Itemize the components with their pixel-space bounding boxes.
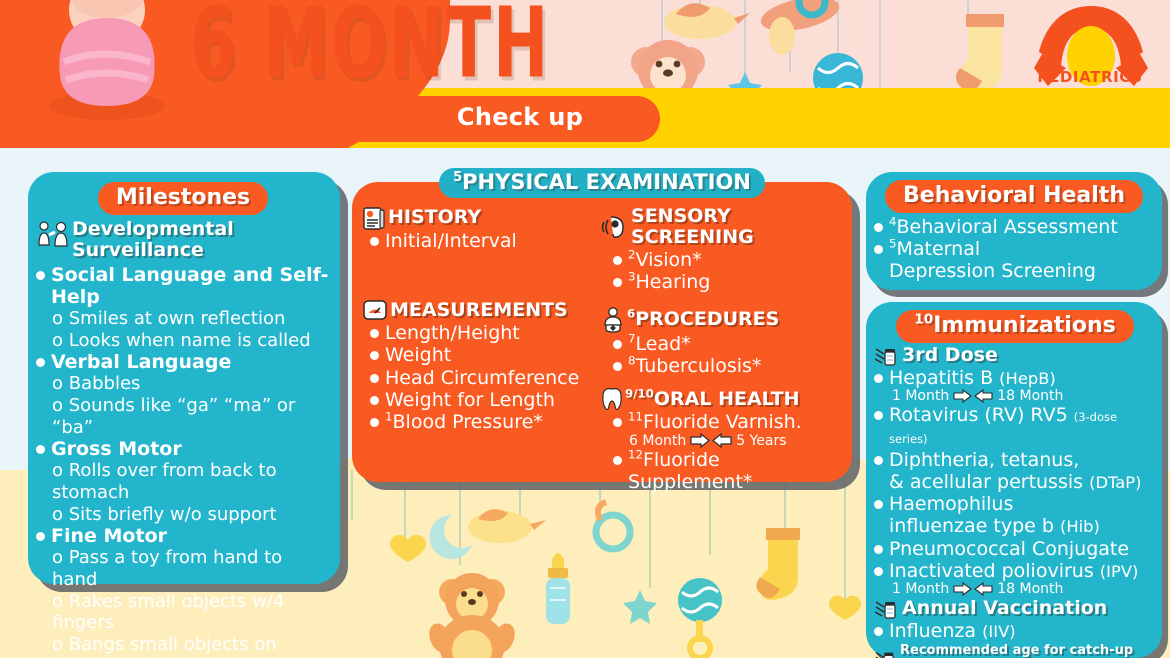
item-superscript: 2 <box>628 247 636 261</box>
section-heading-text: PROCEDURES <box>635 308 779 330</box>
list-item: Diphtheria, tetanus, & acellular pertuss… <box>874 449 1156 493</box>
list-item-text: Vision* <box>636 249 702 271</box>
list-item: o Pass a toy from hand to hand <box>36 547 330 590</box>
list-item-text: Hearing <box>636 271 711 293</box>
list-item-text-line2: Depression Screening <box>889 260 1096 282</box>
bullet-dot <box>613 362 622 371</box>
clipboard-history-icon <box>362 206 386 230</box>
list-item: 12Fluoride Supplement* <box>601 449 842 493</box>
bullet-dot <box>613 256 622 265</box>
page-title: 6 MONTH <box>190 0 550 99</box>
exam-title: 5PHYSICAL EXAMINATION <box>439 168 765 198</box>
item-superscript: 1 <box>385 410 393 424</box>
list-item: o Babbles <box>36 373 330 395</box>
list-item: Inactivated poliovirus (IPV) <box>874 560 1156 582</box>
list-item: Initial/Interval <box>362 230 593 252</box>
checkup-pill: Check up <box>400 96 640 138</box>
milestone-label-text: Verbal Language <box>51 351 231 373</box>
section-heading-text: MEASUREMENTS <box>390 300 568 321</box>
bullet-dot <box>874 411 883 420</box>
list-item: Weight <box>362 344 593 366</box>
bullet-dot <box>874 374 883 383</box>
vaccine-abbrev: (HepB) <box>999 369 1056 388</box>
bullet-dot <box>36 532 45 541</box>
list-item: Rotavirus (RV) RV5 (3-dose series) <box>874 404 1156 448</box>
bullet-dot <box>36 445 45 454</box>
list-item: Weight for Length <box>362 389 593 411</box>
pediatrics-logo-icon <box>1026 2 1156 102</box>
milestone-label-text: Social Language and Self-Help <box>51 264 330 308</box>
bullet-dot <box>370 237 379 246</box>
vaccine-name: Inactivated poliovirus <box>889 560 1094 582</box>
range-from: 1 Month <box>892 388 949 404</box>
bullet-dot <box>874 245 883 254</box>
range-to: 5 Years <box>736 433 786 449</box>
exam-section-procedures: 6PROCEDURES <box>601 307 842 333</box>
bullet-dot <box>36 358 45 367</box>
list-item-text: Length/Height <box>385 322 520 344</box>
list-item-text: Maternal <box>897 238 981 260</box>
milestone-label-text: Gross Motor <box>51 438 182 460</box>
list-item-text: Initial/Interval <box>385 230 517 252</box>
section-heading-text: HISTORY <box>388 207 481 228</box>
bullet-dot <box>370 396 379 405</box>
list-item: o Looks when name is called <box>36 330 330 352</box>
list-item-text: Fluoride Supplement* <box>628 449 752 493</box>
child-development-icon <box>36 221 70 247</box>
double-arrow-icon <box>690 433 732 448</box>
list-item: o Rakes small objects w/4 fingers <box>36 591 330 634</box>
syringe-vaccine-icon <box>874 345 900 367</box>
bullet-dot <box>613 278 622 287</box>
list-item: 11Fluoride Varnish. <box>601 411 842 433</box>
exam-section-measurements: MEASUREMENTS <box>362 298 593 322</box>
list-item: 7Lead* <box>601 333 842 355</box>
bullet-dot <box>613 456 622 465</box>
checkup-label: Check up <box>457 103 583 131</box>
vaccine-name: Haemophilus <box>889 493 1100 515</box>
sock-icon <box>956 14 1004 93</box>
age-range-row: 1 Month 18 Month <box>874 388 1156 404</box>
double-arrow-icon <box>953 582 993 596</box>
bullet-dot <box>370 418 379 427</box>
list-item-text: Blood Pressure* <box>393 411 543 433</box>
duck-icon <box>664 3 750 39</box>
list-item: Pneumococcal Conjugate <box>874 538 1156 560</box>
bullet-dot <box>874 545 883 554</box>
double-arrow-icon <box>953 389 993 403</box>
list-item-text: Head Circumference <box>385 367 579 389</box>
list-item: o Rolls over from back to stomach <box>36 460 330 503</box>
list-item-text: Tuberculosis* <box>636 355 762 377</box>
bullet-dot <box>370 329 379 338</box>
immunizations-title-text: Immunizations <box>933 313 1115 338</box>
range-from: 6 Month <box>629 433 686 449</box>
pacifier-icon <box>758 0 842 55</box>
milestones-heading-line2: Surveillance <box>72 240 234 261</box>
list-item: Length/Height <box>362 322 593 344</box>
list-item-text: Weight <box>385 344 451 366</box>
exam-section-oral-health: 9/10ORAL HEALTH <box>601 387 842 411</box>
vaccine-name: Diphtheria, tetanus, <box>889 449 1142 471</box>
list-item: o Sits briefly w/o support <box>36 504 330 526</box>
bullet-dot <box>874 627 883 636</box>
item-superscript: 5 <box>889 237 897 251</box>
vaccine-name-line2: & acellular pertussis <box>889 471 1083 493</box>
bullet-dot <box>613 418 622 427</box>
list-item: o Bangs small objects on surface <box>36 634 330 658</box>
bullet-dot <box>613 340 622 349</box>
list-item: o Sounds like “ga” “ma” or “ba” <box>36 395 330 438</box>
syringe-vaccine-icon <box>874 649 898 658</box>
vaccine-name-line2: influenzae type b <box>889 515 1054 537</box>
item-superscript: 3 <box>628 269 636 283</box>
bullet-dot <box>874 456 883 465</box>
group-heading-text: Recommended age for catch-up immunizatio… <box>900 644 1156 658</box>
vaccine-abbrev: (Hib) <box>1060 517 1100 536</box>
item-superscript: 12 <box>628 447 643 461</box>
list-item: Head Circumference <box>362 367 593 389</box>
age-range-row: 1 Month 18 Month <box>874 581 1156 597</box>
item-superscript: 8 <box>628 354 636 368</box>
milestones-panel: Milestones Developmental Surveillance So… <box>28 172 340 584</box>
item-superscript: 11 <box>628 410 643 424</box>
milestones-title: Milestones <box>98 182 268 215</box>
section-heading-text: ORAL HEALTH <box>654 388 800 410</box>
list-item: 3Hearing <box>601 271 842 293</box>
exam-title-text: PHYSICAL EXAMINATION <box>462 170 751 194</box>
immunization-group-catchup: Recommended age for catch-up immunizatio… <box>874 644 1156 658</box>
group-heading-text: 3rd Dose <box>902 345 998 366</box>
milestone-group-label: Gross Motor <box>36 438 330 460</box>
immunizations-title: 10Immunizations <box>896 310 1133 343</box>
vaccine-abbrev: (IPV) <box>1100 562 1139 581</box>
list-item: o Smiles at own reflection <box>36 308 330 330</box>
vaccine-name: Rotavirus (RV) RV5 <box>889 404 1068 426</box>
tooth-oral-health-icon <box>601 387 623 411</box>
milestone-group-label: Fine Motor <box>36 525 330 547</box>
exam-section-history: HISTORY <box>362 206 593 230</box>
item-superscript: 7 <box>628 332 636 346</box>
vaccine-abbrev: (IIV) <box>982 622 1016 641</box>
group-heading-text: Annual Vaccination <box>902 598 1107 619</box>
vaccine-name: Influenza <box>889 620 976 642</box>
vaccine-name: Pneumococcal Conjugate <box>889 538 1129 560</box>
list-item-text: Lead* <box>636 333 691 355</box>
list-item: 2Vision* <box>601 249 842 271</box>
list-item-text: Fluoride Varnish. <box>643 411 802 433</box>
list-item: Influenza (IIV) <box>874 620 1156 642</box>
milestone-group-label: Social Language and Self-Help <box>36 264 330 308</box>
immunizations-panel: 10Immunizations 3rd Dose Hepatitis B (He… <box>866 302 1162 658</box>
list-item: 8Tuberculosis* <box>601 355 842 377</box>
scale-measurements-icon <box>362 298 388 322</box>
syringe-vaccine-icon <box>874 598 900 620</box>
section-superscript: 9/10 <box>625 386 654 400</box>
list-item: Hepatitis B (HepB) <box>874 367 1156 389</box>
swaddled-baby-icon <box>22 0 192 133</box>
list-item: 5Maternal Depression Screening <box>874 238 1154 282</box>
logo-text: PEDIATRICS <box>1022 68 1158 86</box>
bullet-dot <box>874 500 883 509</box>
vaccine-name: Hepatitis B <box>889 367 993 389</box>
exam-title-superscript: 5 <box>453 170 462 185</box>
vaccine-abbrev: (DTaP) <box>1089 473 1141 492</box>
list-item: Haemophilus influenzae type b (Hib) <box>874 493 1156 537</box>
behavioral-title: Behavioral Health <box>885 180 1143 213</box>
behavioral-health-panel: Behavioral Health 4Behavioral Assessment… <box>866 172 1162 290</box>
baby-procedures-icon <box>601 307 625 333</box>
bullet-dot <box>36 271 45 280</box>
page-header: 6 MONTH Check up PEDIATRICS <box>0 0 1170 148</box>
milestone-group-label: Verbal Language <box>36 351 330 373</box>
section-heading-text: SENSORY SCREENING <box>631 206 842 249</box>
list-item-text: Weight for Length <box>385 389 555 411</box>
age-range-row: 6 Month 5 Years <box>601 433 842 449</box>
range-to: 18 Month <box>997 581 1063 597</box>
list-item: 1Blood Pressure* <box>362 411 593 433</box>
range-to: 18 Month <box>997 388 1063 404</box>
list-item: 4Behavioral Assessment <box>874 216 1154 238</box>
range-from: 1 Month <box>892 581 949 597</box>
bullet-dot <box>874 567 883 576</box>
bullet-dot <box>370 374 379 383</box>
item-superscript: 4 <box>889 215 897 229</box>
list-item-text: Behavioral Assessment <box>897 216 1118 238</box>
ear-sensory-icon <box>601 215 629 239</box>
bullet-dot <box>874 223 883 232</box>
milestone-label-text: Fine Motor <box>51 525 167 547</box>
immunization-group-3rd-dose: 3rd Dose <box>874 345 1156 367</box>
bullet-dot <box>370 351 379 360</box>
milestones-heading-line1: Developmental <box>72 219 234 240</box>
immunization-group-annual: Annual Vaccination <box>874 598 1156 620</box>
physical-exam-panel: 5PHYSICAL EXAMINATION HISTORY <box>352 182 852 482</box>
exam-section-sensory: SENSORY SCREENING <box>601 206 842 249</box>
immunizations-title-superscript: 10 <box>914 312 933 328</box>
section-superscript: 6 <box>627 307 635 321</box>
